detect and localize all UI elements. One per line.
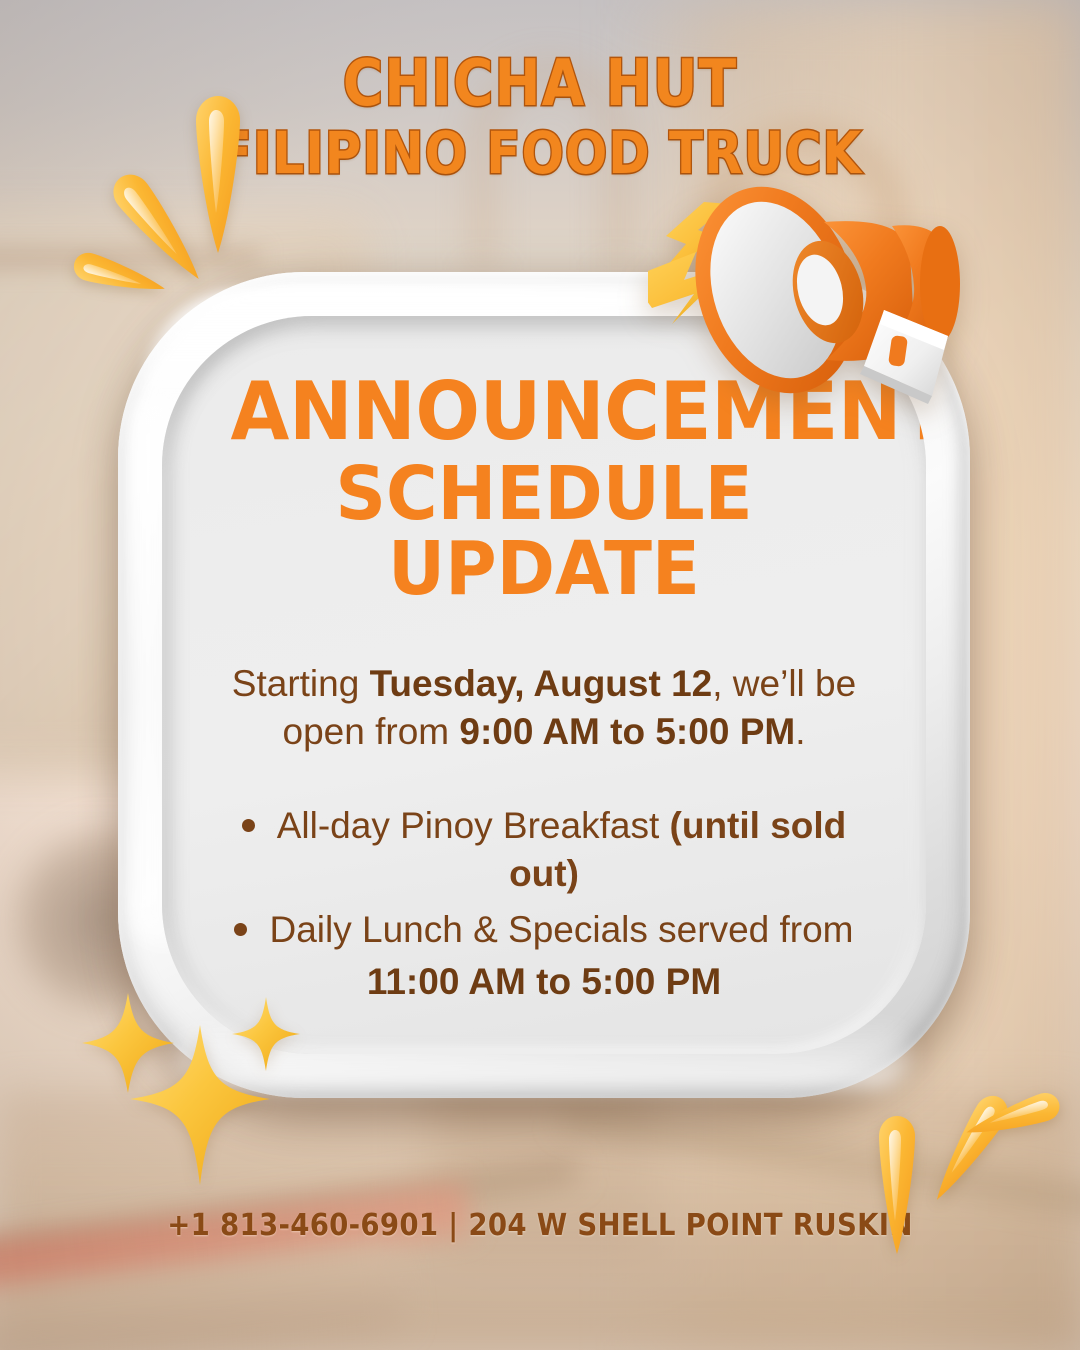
- bullet-2-text: Daily Lunch & Specials served from: [269, 909, 853, 950]
- list-item: All-day Pinoy Breakfast (until sold out): [214, 802, 874, 898]
- schedule-paragraph: Starting Tuesday, August 12, we’ll be op…: [214, 660, 874, 756]
- confetti-drops-icon: [845, 1060, 1075, 1295]
- offer-list: All-day Pinoy Breakfast (until sold out)…: [214, 802, 874, 1006]
- drop-small: [71, 249, 169, 302]
- announcement-subtitle: SCHEDULE UPDATE: [231, 457, 858, 608]
- drop-medium: [923, 1090, 1014, 1209]
- poster-canvas: CHICHA HUT FILIPINO FOOD TRUCK: [0, 0, 1080, 1350]
- sparkle-top-right: [232, 997, 300, 1071]
- para1-bold-2: 9:00 AM to 5:00 PM: [459, 711, 795, 752]
- bullet-dot-icon: [242, 819, 255, 832]
- sparkles-icon: [78, 985, 343, 1200]
- drop-large: [879, 1116, 915, 1254]
- para1-pre: Starting: [232, 663, 370, 704]
- sparkle-top-left: [82, 993, 174, 1093]
- confetti-drops-icon: [60, 88, 290, 313]
- para1-bold-1: Tuesday, August 12: [370, 663, 713, 704]
- para1-post: .: [795, 711, 805, 752]
- card-content: ANNOUNCEMENT SCHEDULE UPDATE Starting Tu…: [214, 374, 874, 1054]
- card-inner-panel: ANNOUNCEMENT SCHEDULE UPDATE Starting Tu…: [162, 316, 926, 1054]
- drop-large: [196, 96, 240, 253]
- bullet-dot-icon: [234, 923, 247, 936]
- megaphone-icon: [648, 160, 988, 405]
- bullet-1-text: All-day Pinoy Breakfast: [277, 805, 670, 846]
